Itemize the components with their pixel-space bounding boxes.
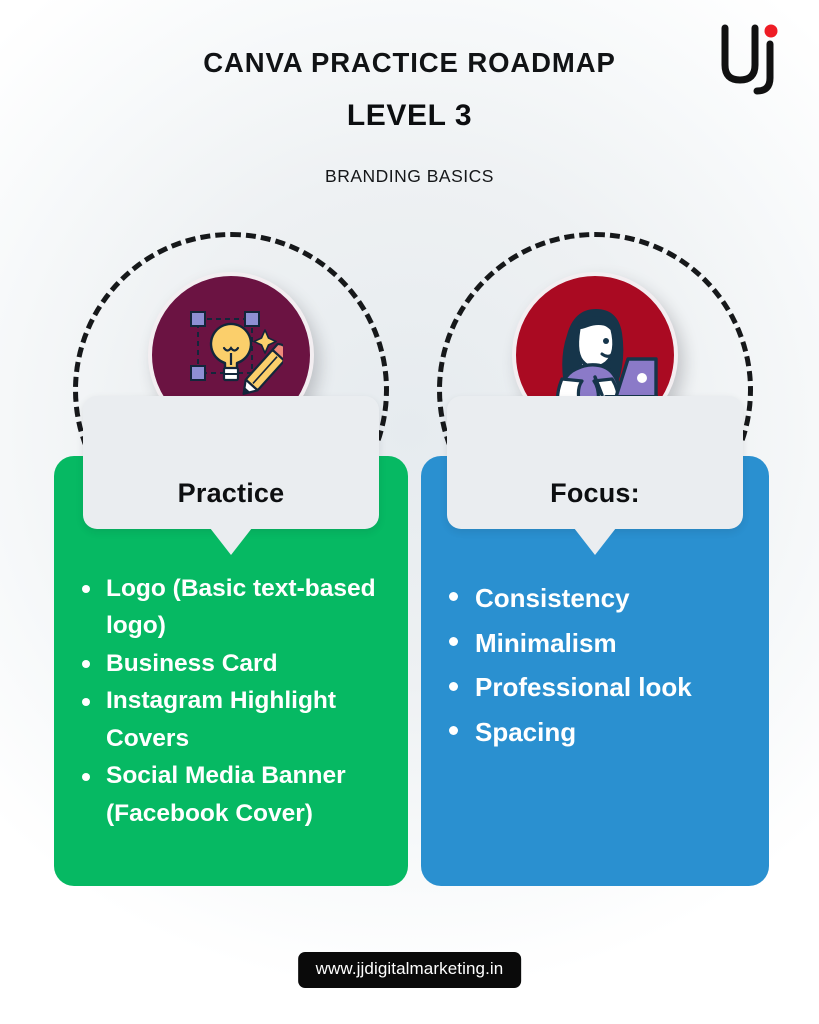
woman-with-laptop-icon (532, 299, 658, 411)
list-item: Logo (Basic text-based logo) (106, 570, 382, 645)
list-item: Professional look (475, 665, 749, 710)
list-practice: Logo (Basic text-based logo) Business Ca… (54, 570, 408, 832)
label-focus: Focus: (550, 478, 640, 509)
label-practice: Practice (178, 478, 285, 509)
list-item: Social Media Banner (Facebook Cover) (106, 757, 382, 832)
list-item: Consistency (475, 576, 749, 621)
columns-wrapper: Practice Logo (Basic text-based logo) Bu… (0, 0, 819, 1024)
list-focus: Consistency Minimalism Professional look… (421, 576, 769, 755)
website-url-badge[interactable]: www.jjdigitalmarketing.in (298, 952, 522, 988)
label-bubble-practice: Practice (83, 396, 379, 529)
lightbulb-design-icon (179, 303, 283, 407)
list-item: Spacing (475, 710, 749, 755)
list-item: Minimalism (475, 621, 749, 666)
list-item: Business Card (106, 645, 382, 682)
list-item: Instagram Highlight Covers (106, 682, 382, 757)
poster-canvas: CANVA PRACTICE ROADMAP LEVEL 3 BRANDING … (0, 0, 819, 1024)
column-practice: Practice Logo (Basic text-based logo) Bu… (54, 0, 408, 1024)
column-focus: Focus: Consistency Minimalism Profession… (421, 0, 769, 1024)
label-bubble-focus: Focus: (447, 396, 743, 529)
